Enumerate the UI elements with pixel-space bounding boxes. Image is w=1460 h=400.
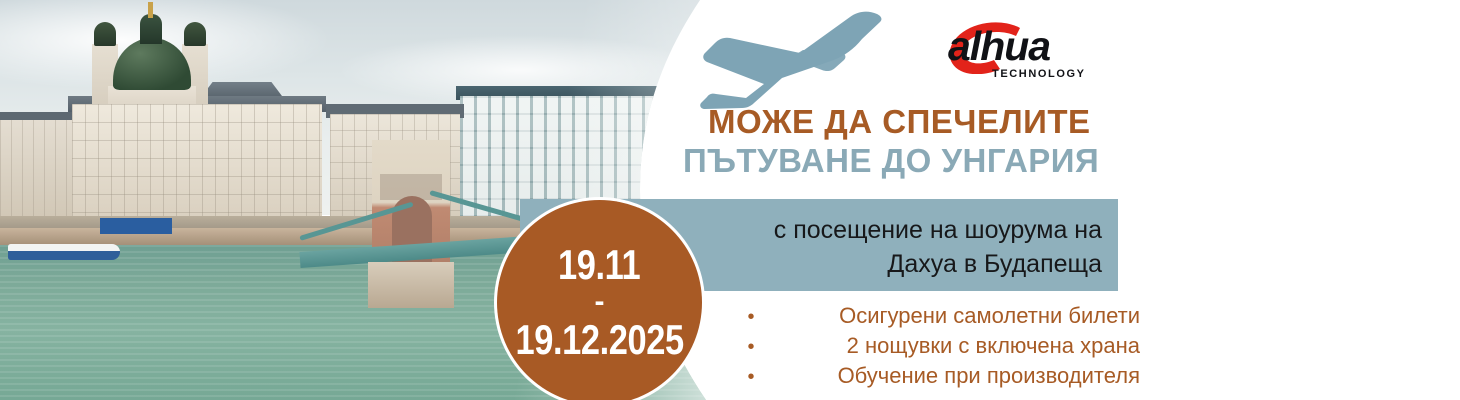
basilica-lantern <box>140 14 162 44</box>
headline-line-1: МОЖЕ ДА СПЕЧЕЛИТЕ <box>708 103 1138 141</box>
bullet-icon: • <box>740 365 762 390</box>
list-item: • 2 нощувки с включена храна <box>740 333 1140 360</box>
date-start: 19.11 <box>558 242 640 288</box>
headline-line-2: ПЪТУВАНЕ ДО УНГАРИЯ <box>683 142 1153 180</box>
list-item: • Осигурени самолетни билети <box>740 303 1140 330</box>
list-item-label: Обучение при производителя <box>772 363 1140 388</box>
river-boat <box>8 244 120 260</box>
date-badge: 19.11 - 19.12.2025 <box>497 200 702 400</box>
bullet-icon: • <box>740 305 762 330</box>
date-end: 19.12.2025 <box>515 316 683 364</box>
bullet-icon: • <box>740 335 762 360</box>
date-separator: - <box>595 288 605 316</box>
airplane-icon <box>672 8 892 112</box>
subtitle-line-2: Дахуа в Будапеща <box>632 247 1102 281</box>
dahua-wordmark: alhua <box>948 24 1124 68</box>
basilica-spire <box>148 2 153 18</box>
riverside-kiosk <box>100 218 172 234</box>
benefits-list: • Осигурени самолетни билети • 2 нощувки… <box>740 303 1140 393</box>
dahua-logo: alhua TECHNOLOGY <box>948 24 1124 86</box>
chain-bridge-pier <box>368 262 454 308</box>
subtitle-line-1: с посещение на шоурума на <box>632 213 1102 247</box>
promo-banner: МОЖЕ ДА СПЕЧЕЛИТЕ ПЪТУВАНЕ ДО УНГАРИЯ с … <box>0 0 1460 400</box>
list-item: • Обучение при производителя <box>740 363 1140 390</box>
list-item-label: 2 нощувки с включена храна <box>772 333 1140 358</box>
list-item-label: Осигурени самолетни билети <box>772 303 1140 328</box>
subtitle-text: с посещение на шоурума на Дахуа в Будапе… <box>632 213 1102 281</box>
dahua-tagline: TECHNOLOGY <box>992 68 1086 80</box>
